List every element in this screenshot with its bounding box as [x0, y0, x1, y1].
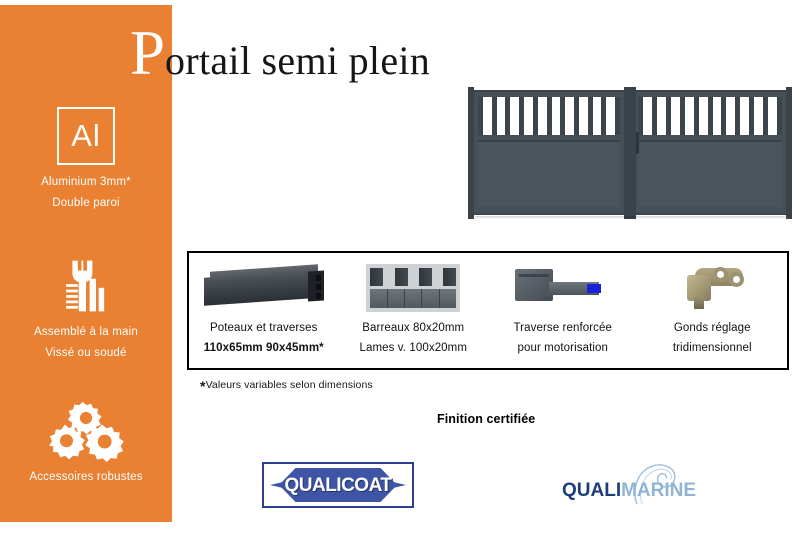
- barreaux-sample-icon: [366, 260, 460, 316]
- spec-cell-barreaux-line-1: Barreaux 80x20mm: [359, 318, 467, 338]
- hinge-icon: [679, 260, 745, 316]
- spec-cell-gonds-line-2: tridimensionnel: [673, 338, 752, 358]
- spec-cell-barreaux: Barreaux 80x20mm Lames v. 100x20mm: [339, 253, 489, 368]
- sidebar-feature-aluminium: Al Aluminium 3mm* Double paroi: [0, 100, 172, 215]
- qualimarine-wordmark-a: QUALI: [562, 480, 621, 501]
- gate-leaf-left: [471, 90, 627, 215]
- spec-cell-barreaux-line-2: Lames v. 100x20mm: [359, 338, 467, 358]
- page-title-rest: ortail semi plein: [165, 41, 430, 81]
- spec-cell-poteaux-line-2: 110x65mm 90x45mm*: [204, 338, 324, 358]
- aluminium-square-icon: Al: [0, 100, 172, 172]
- gate-panel-left: [478, 140, 620, 207]
- aluminium-profile-icon: [204, 260, 324, 316]
- footnote: *Valeurs variables selon dimensions: [200, 379, 373, 393]
- gate-bars-right: [638, 97, 782, 135]
- spec-cell-motorisation: Traverse renforcée pour motorisation: [488, 253, 638, 368]
- motorisation-traverse-icon: [513, 260, 613, 316]
- certification-label: Finition certifiée: [437, 412, 535, 426]
- gears-icon: [0, 395, 172, 467]
- qualicoat-wordmark: QUALICOAT: [264, 475, 412, 497]
- product-image-gate: [471, 90, 789, 230]
- spec-cell-poteaux-line-1: Poteaux et traverses: [204, 318, 324, 338]
- sidebar-feature-aluminium-line-1: Aluminium 3mm*: [0, 172, 172, 193]
- sidebar-feature-accessories: Accessoires robustes: [0, 395, 172, 488]
- qualicoat-logo: QUALICOAT: [262, 462, 414, 508]
- spec-cell-motorisation-line-2: pour motorisation: [513, 338, 612, 358]
- qualimarine-wordmark: QUALIMARINE: [562, 480, 696, 502]
- sidebar-feature-accessories-line-1: Accessoires robustes: [0, 467, 172, 488]
- spec-cell-gonds: Gonds réglage tridimensionnel: [638, 253, 788, 368]
- gate-handle: [636, 132, 639, 154]
- sidebar-feature-aluminium-line-2: Double paroi: [0, 193, 172, 214]
- sidebar-feature-assembly-line-2: Vissé ou soudé: [0, 343, 172, 364]
- gate-bars-left: [478, 97, 620, 135]
- spec-cell-motorisation-line-1: Traverse renforcée: [513, 318, 612, 338]
- gate-post-right: [786, 87, 792, 219]
- page-title: P ortail semi plein: [130, 22, 430, 86]
- product-spec-sheet: Al Aluminium 3mm* Double paroi: [0, 0, 800, 534]
- qualimarine-logo: QUALIMARINE: [562, 462, 722, 508]
- page-title-initial: P: [130, 22, 165, 85]
- gate-shadow: [475, 216, 785, 219]
- sidebar-feature-assembly: Assemblé à la main Vissé ou soudé: [0, 250, 172, 365]
- gate-post-left: [468, 87, 474, 219]
- footnote-text: Valeurs variables selon dimensions: [206, 379, 373, 391]
- wrench-screws-icon: [0, 250, 172, 322]
- spec-cell-poteaux: Poteaux et traverses 110x65mm 90x45mm*: [189, 253, 339, 368]
- gate-panel-right: [638, 140, 782, 207]
- sidebar-feature-assembly-line-1: Assemblé à la main: [0, 322, 172, 343]
- aluminium-symbol-label: Al: [57, 107, 115, 165]
- qualimarine-wordmark-b: MARINE: [621, 480, 696, 501]
- spec-cell-gonds-line-1: Gonds réglage: [673, 318, 752, 338]
- gate-leaf-right: [631, 90, 789, 215]
- specification-box: Poteaux et traverses 110x65mm 90x45mm* B…: [187, 251, 789, 370]
